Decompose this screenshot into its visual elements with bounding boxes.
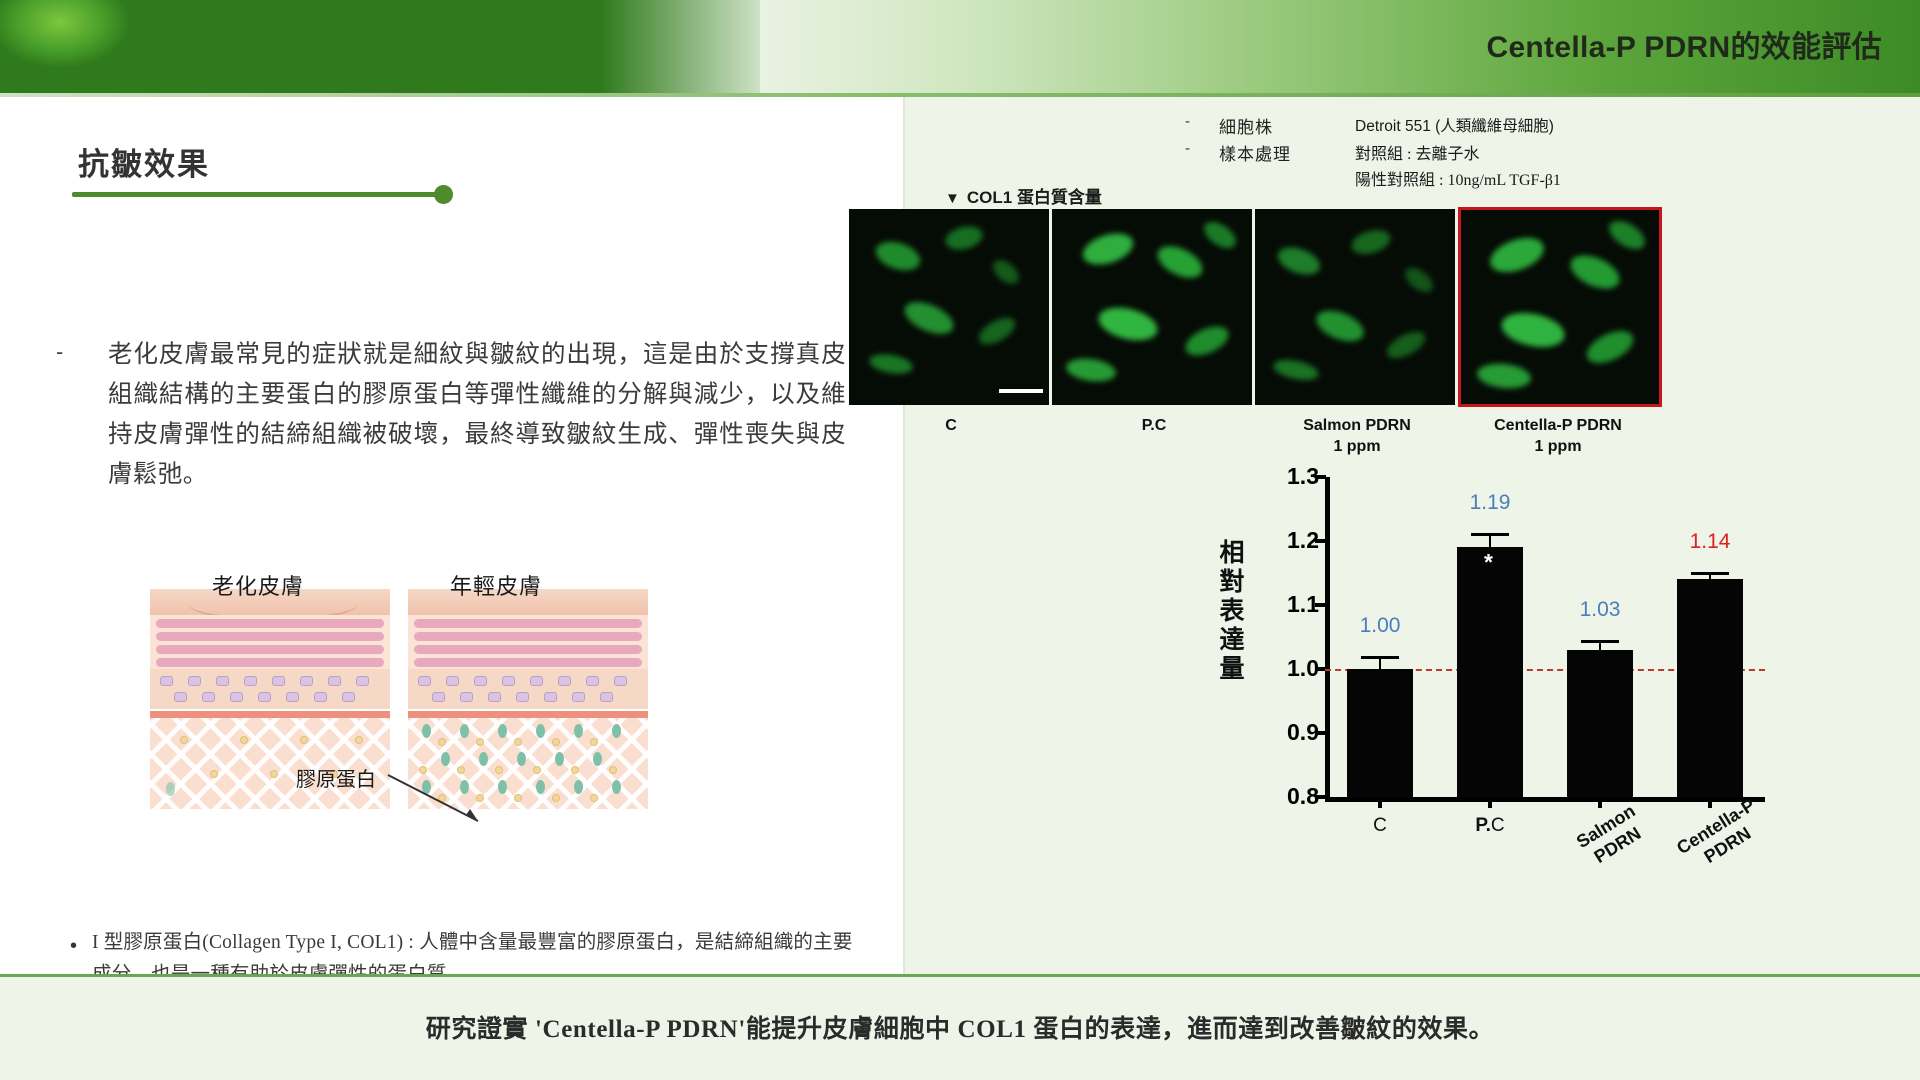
micrograph-label-salmon-line2: 1 ppm <box>1255 436 1459 457</box>
meta-dash-0: - <box>1185 113 1190 130</box>
aged-skin-label: 老化皮膚 <box>212 569 304 601</box>
meta-dash-1: - <box>1185 140 1190 157</box>
chart-y-tick-1.1: 1.1 <box>1267 593 1319 616</box>
skin-comparison-illustration: 老化皮膚 年輕皮膚 <box>150 567 710 817</box>
chart-y-tick-0.9: 0.9 <box>1267 721 1319 744</box>
meta-key-treatment: 樣本處理 <box>1219 140 1291 165</box>
micrograph-label-positive-control: P.C <box>1052 415 1256 436</box>
chart-y-tick-mark-0.9 <box>1315 731 1326 735</box>
chart-plot-area: 1.31.21.11.00.90.8 1.001.19*1.031.14 CP.… <box>1325 477 1765 797</box>
meta-value-positive-control: 陽性對照組 : 10ng/mL TGF-β1 <box>1355 166 1561 190</box>
chart-bar-p-c <box>1457 547 1523 797</box>
micrograph-positive-control <box>1052 209 1252 405</box>
chart-error-cap-1 <box>1471 533 1509 536</box>
collagen-arrow-icon <box>386 773 506 833</box>
slide-root: Centella-P PDRN的效能評估 抗皺效果 - 老化皮膚最常見的症狀就是… <box>0 0 1920 1080</box>
young-skin-label: 年輕皮膚 <box>450 569 542 601</box>
slide-header: Centella-P PDRN的效能評估 <box>0 0 1920 95</box>
chart-y-tick-1.0: 1.0 <box>1267 657 1319 680</box>
young-dermis-boundary <box>408 711 648 718</box>
micrograph-salmon-pdrn <box>1255 209 1455 405</box>
micrograph-label-centella-line2: 1 ppm <box>1456 436 1660 457</box>
section-title: 抗皺效果 <box>78 139 210 184</box>
intro-paragraph-block: - 老化皮膚最常見的症狀就是細紋與皺紋的出現，這是由於支撐真皮組織結構的主要蛋白… <box>56 335 846 495</box>
micrograph-control <box>849 209 1049 405</box>
meta-key-cell-line: 細胞株 <box>1219 113 1273 138</box>
chart-error-cap-3 <box>1691 572 1729 575</box>
section-underline <box>72 192 444 197</box>
aged-dermis-boundary <box>150 711 390 718</box>
chart-value-label-2: 1.03 <box>1545 598 1655 622</box>
chart-bar-salmon-pdrn <box>1567 650 1633 797</box>
young-epidermis-layers <box>408 615 648 669</box>
micrograph-label-centella-line1: Centella-P PDRN <box>1456 415 1660 436</box>
chart-x-tick-2 <box>1598 797 1602 808</box>
chart-value-label-3: 1.14 <box>1655 530 1765 554</box>
chart-x-tick-1 <box>1488 797 1492 808</box>
micrograph-label-control: C <box>849 415 1053 436</box>
micrograph-label-control-line1: C <box>849 415 1053 436</box>
section-underline-dot <box>434 185 453 204</box>
young-basal-cells <box>408 669 648 709</box>
chart-x-tick-3 <box>1708 797 1712 808</box>
col1-heading-en: COL1 <box>967 188 1012 207</box>
micrograph-label-row: C P.C Salmon PDRN 1 ppm Centella-P PDRN … <box>849 415 1865 471</box>
chart-value-label-0: 1.00 <box>1325 614 1435 638</box>
right-data-panel: - 細胞株 Detroit 551 (人類纖維母細胞) - 樣本處理 對照組 :… <box>905 97 1920 974</box>
collagen-callout-label: 膠原蛋白 <box>296 763 376 792</box>
triangle-down-icon: ▼ <box>945 190 960 207</box>
chart-x-label-c: C <box>1320 815 1440 837</box>
chart-x-axis <box>1325 797 1765 802</box>
page-title: Centella-P PDRN的效能評估 <box>1486 22 1882 66</box>
micrograph-label-salmon-pdrn: Salmon PDRN 1 ppm <box>1255 415 1459 457</box>
aged-basal-cells <box>150 669 390 709</box>
micrograph-row <box>849 209 1865 409</box>
col1-section-heading: ▼COL1 蛋白質含量 <box>945 183 1102 208</box>
conclusion-bar: 研究證實 'Centella-P PDRN'能提升皮膚細胞中 COL1 蛋白的表… <box>0 974 1920 1080</box>
col1-heading-zh: 蛋白質含量 <box>1017 188 1102 207</box>
meta-value-control: 對照組 : 去離子水 <box>1355 140 1479 164</box>
meta-row-cell-line: - 細胞株 Detroit 551 (人類纖維母細胞) <box>1185 113 1905 140</box>
chart-y-tick-1.2: 1.2 <box>1267 529 1319 552</box>
micrograph-label-pc-line1: P.C <box>1052 415 1256 436</box>
micrograph-label-salmon-line1: Salmon PDRN <box>1255 415 1459 436</box>
meta-row-treatment: - 樣本處理 對照組 : 去離子水 陽性對照組 : 10ng/mL TGF-β1 <box>1185 140 1905 192</box>
scale-bar <box>999 389 1043 393</box>
chart-y-tick-0.8: 0.8 <box>1267 785 1319 808</box>
meta-value-cell-line: Detroit 551 (人類纖維母細胞) <box>1355 114 1554 136</box>
col1-expression-bar-chart: 相對表達量 1.31.21.11.00.90.8 1.001.19*1.031.… <box>1205 477 1905 957</box>
experiment-meta-block: - 細胞株 Detroit 551 (人類纖維母細胞) - 樣本處理 對照組 :… <box>1185 113 1905 192</box>
chart-y-axis-label: 相對表達量 <box>1215 539 1249 684</box>
micrograph-centella-p-pdrn <box>1458 207 1662 407</box>
paragraph-dash-marker: - <box>56 339 63 365</box>
chart-bar-c <box>1347 669 1413 797</box>
chart-y-tick-mark-0.8 <box>1315 795 1326 799</box>
left-content-panel: 抗皺效果 - 老化皮膚最常見的症狀就是細紋與皺紋的出現，這是由於支撐真皮組織結構… <box>0 97 905 974</box>
chart-error-cap-2 <box>1581 640 1619 643</box>
chart-y-tick-mark-1.1 <box>1315 603 1326 607</box>
bullet-marker: • <box>70 935 77 958</box>
chart-y-tick-1.3: 1.3 <box>1267 465 1319 488</box>
micrograph-label-centella-pdrn: Centella-P PDRN 1 ppm <box>1456 415 1660 457</box>
conclusion-text: 研究證實 'Centella-P PDRN'能提升皮膚細胞中 COL1 蛋白的表… <box>0 1009 1920 1045</box>
chart-y-tick-mark-1.3 <box>1315 475 1326 479</box>
chart-x-label-p-c: P.C <box>1430 815 1550 837</box>
aged-epidermis-layers <box>150 615 390 669</box>
chart-bar-centella-p-pdrn <box>1677 579 1743 797</box>
chart-y-tick-mark-1.2 <box>1315 539 1326 543</box>
chart-significance-marker-1: * <box>1484 549 1493 576</box>
chart-value-label-1: 1.19 <box>1435 491 1545 515</box>
intro-paragraph: 老化皮膚最常見的症狀就是細紋與皺紋的出現，這是由於支撐真皮組織結構的主要蛋白的膠… <box>108 335 846 495</box>
chart-x-tick-0 <box>1378 797 1382 808</box>
chart-error-cap-0 <box>1361 656 1399 659</box>
